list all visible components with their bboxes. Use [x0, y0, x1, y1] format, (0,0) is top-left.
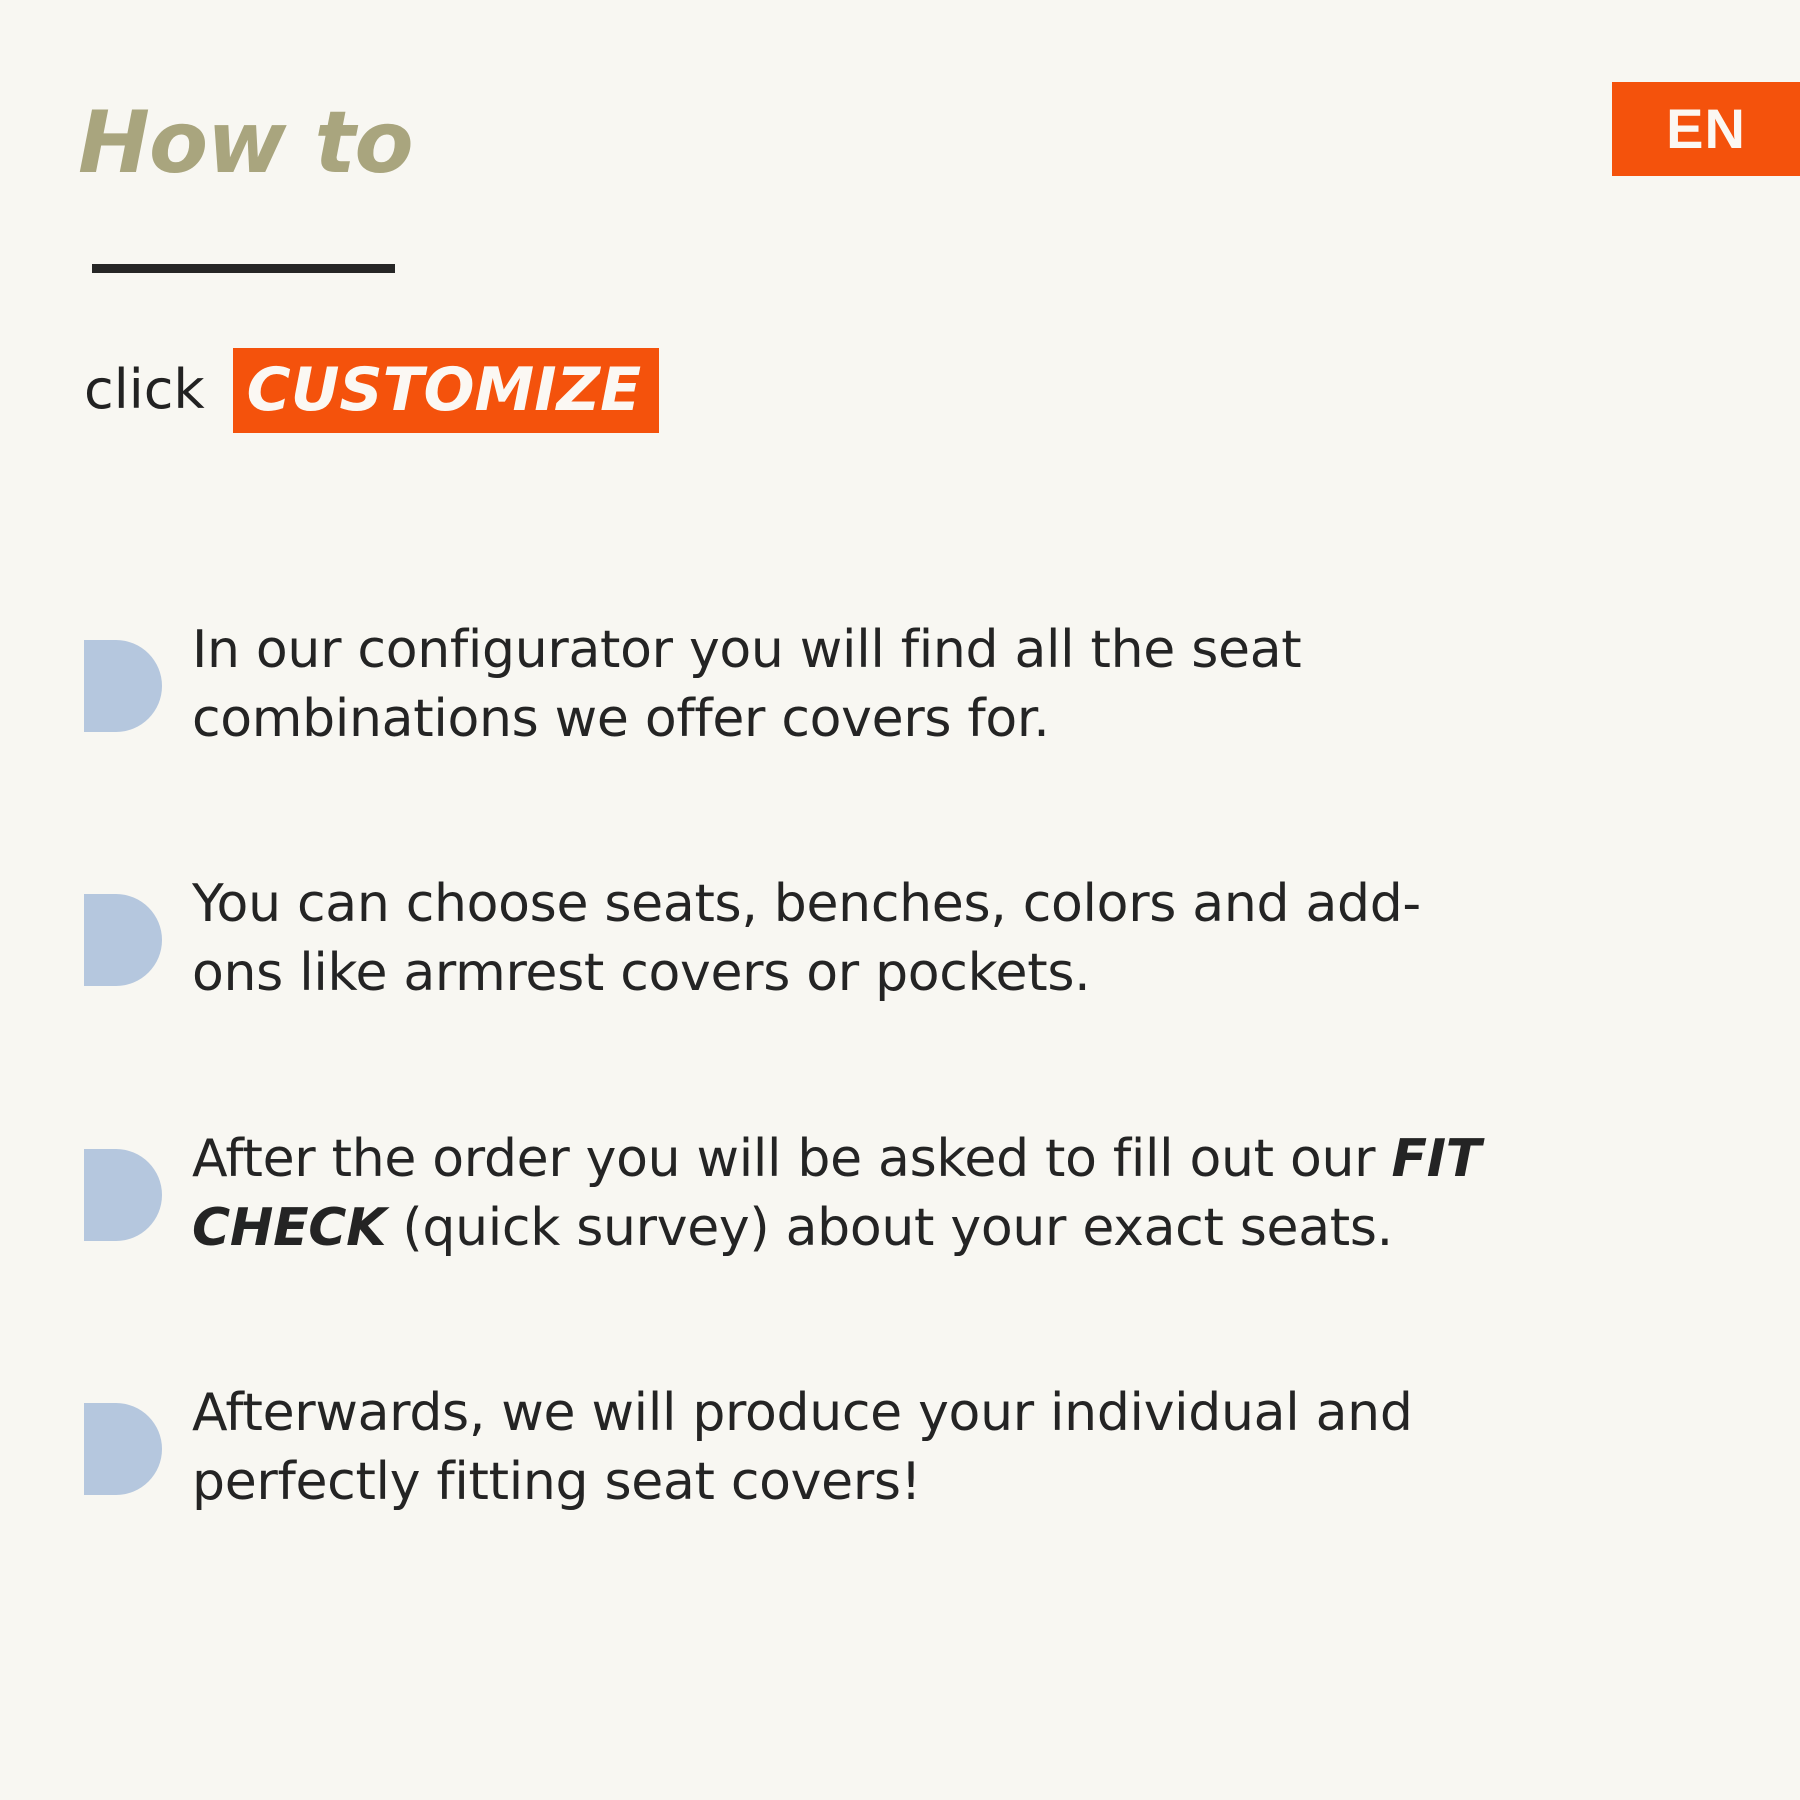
cta-prefix-label: click	[84, 363, 233, 417]
list-item: After the order you will be asked to fil…	[84, 1125, 1724, 1263]
language-badge[interactable]: EN	[1612, 82, 1800, 176]
d-shape-bullet-icon	[84, 894, 162, 986]
list-item-text-tail: (quick survey) about your exact seats.	[386, 1198, 1393, 1258]
how-to-card: EN How to click CUSTOMIZE In our configu…	[0, 0, 1800, 1800]
list-item-text: You can choose seats, benches, colors an…	[192, 870, 1482, 1008]
language-badge-label: EN	[1666, 101, 1746, 157]
list-item-text-lead: After the order you will be asked to fil…	[192, 1129, 1392, 1189]
list-item: Afterwards, we will produce your individ…	[84, 1379, 1724, 1517]
d-shape-bullet-icon	[84, 1403, 162, 1495]
title-underline-rule	[92, 264, 395, 273]
customize-button[interactable]: CUSTOMIZE	[233, 348, 659, 433]
instruction-list: In our configurator you will find all th…	[84, 616, 1724, 1517]
list-item: You can choose seats, benches, colors an…	[84, 870, 1724, 1008]
page-title: How to	[78, 96, 413, 191]
customize-button-label: CUSTOMIZE	[247, 360, 641, 420]
d-shape-bullet-icon	[84, 640, 162, 732]
d-shape-bullet-icon	[84, 1149, 162, 1241]
list-item-text: After the order you will be asked to fil…	[192, 1125, 1482, 1263]
list-item: In our configurator you will find all th…	[84, 616, 1724, 754]
call-to-action-line: click CUSTOMIZE	[84, 345, 659, 435]
list-item-text: Afterwards, we will produce your individ…	[192, 1379, 1482, 1517]
list-item-text: In our configurator you will find all th…	[192, 616, 1482, 754]
